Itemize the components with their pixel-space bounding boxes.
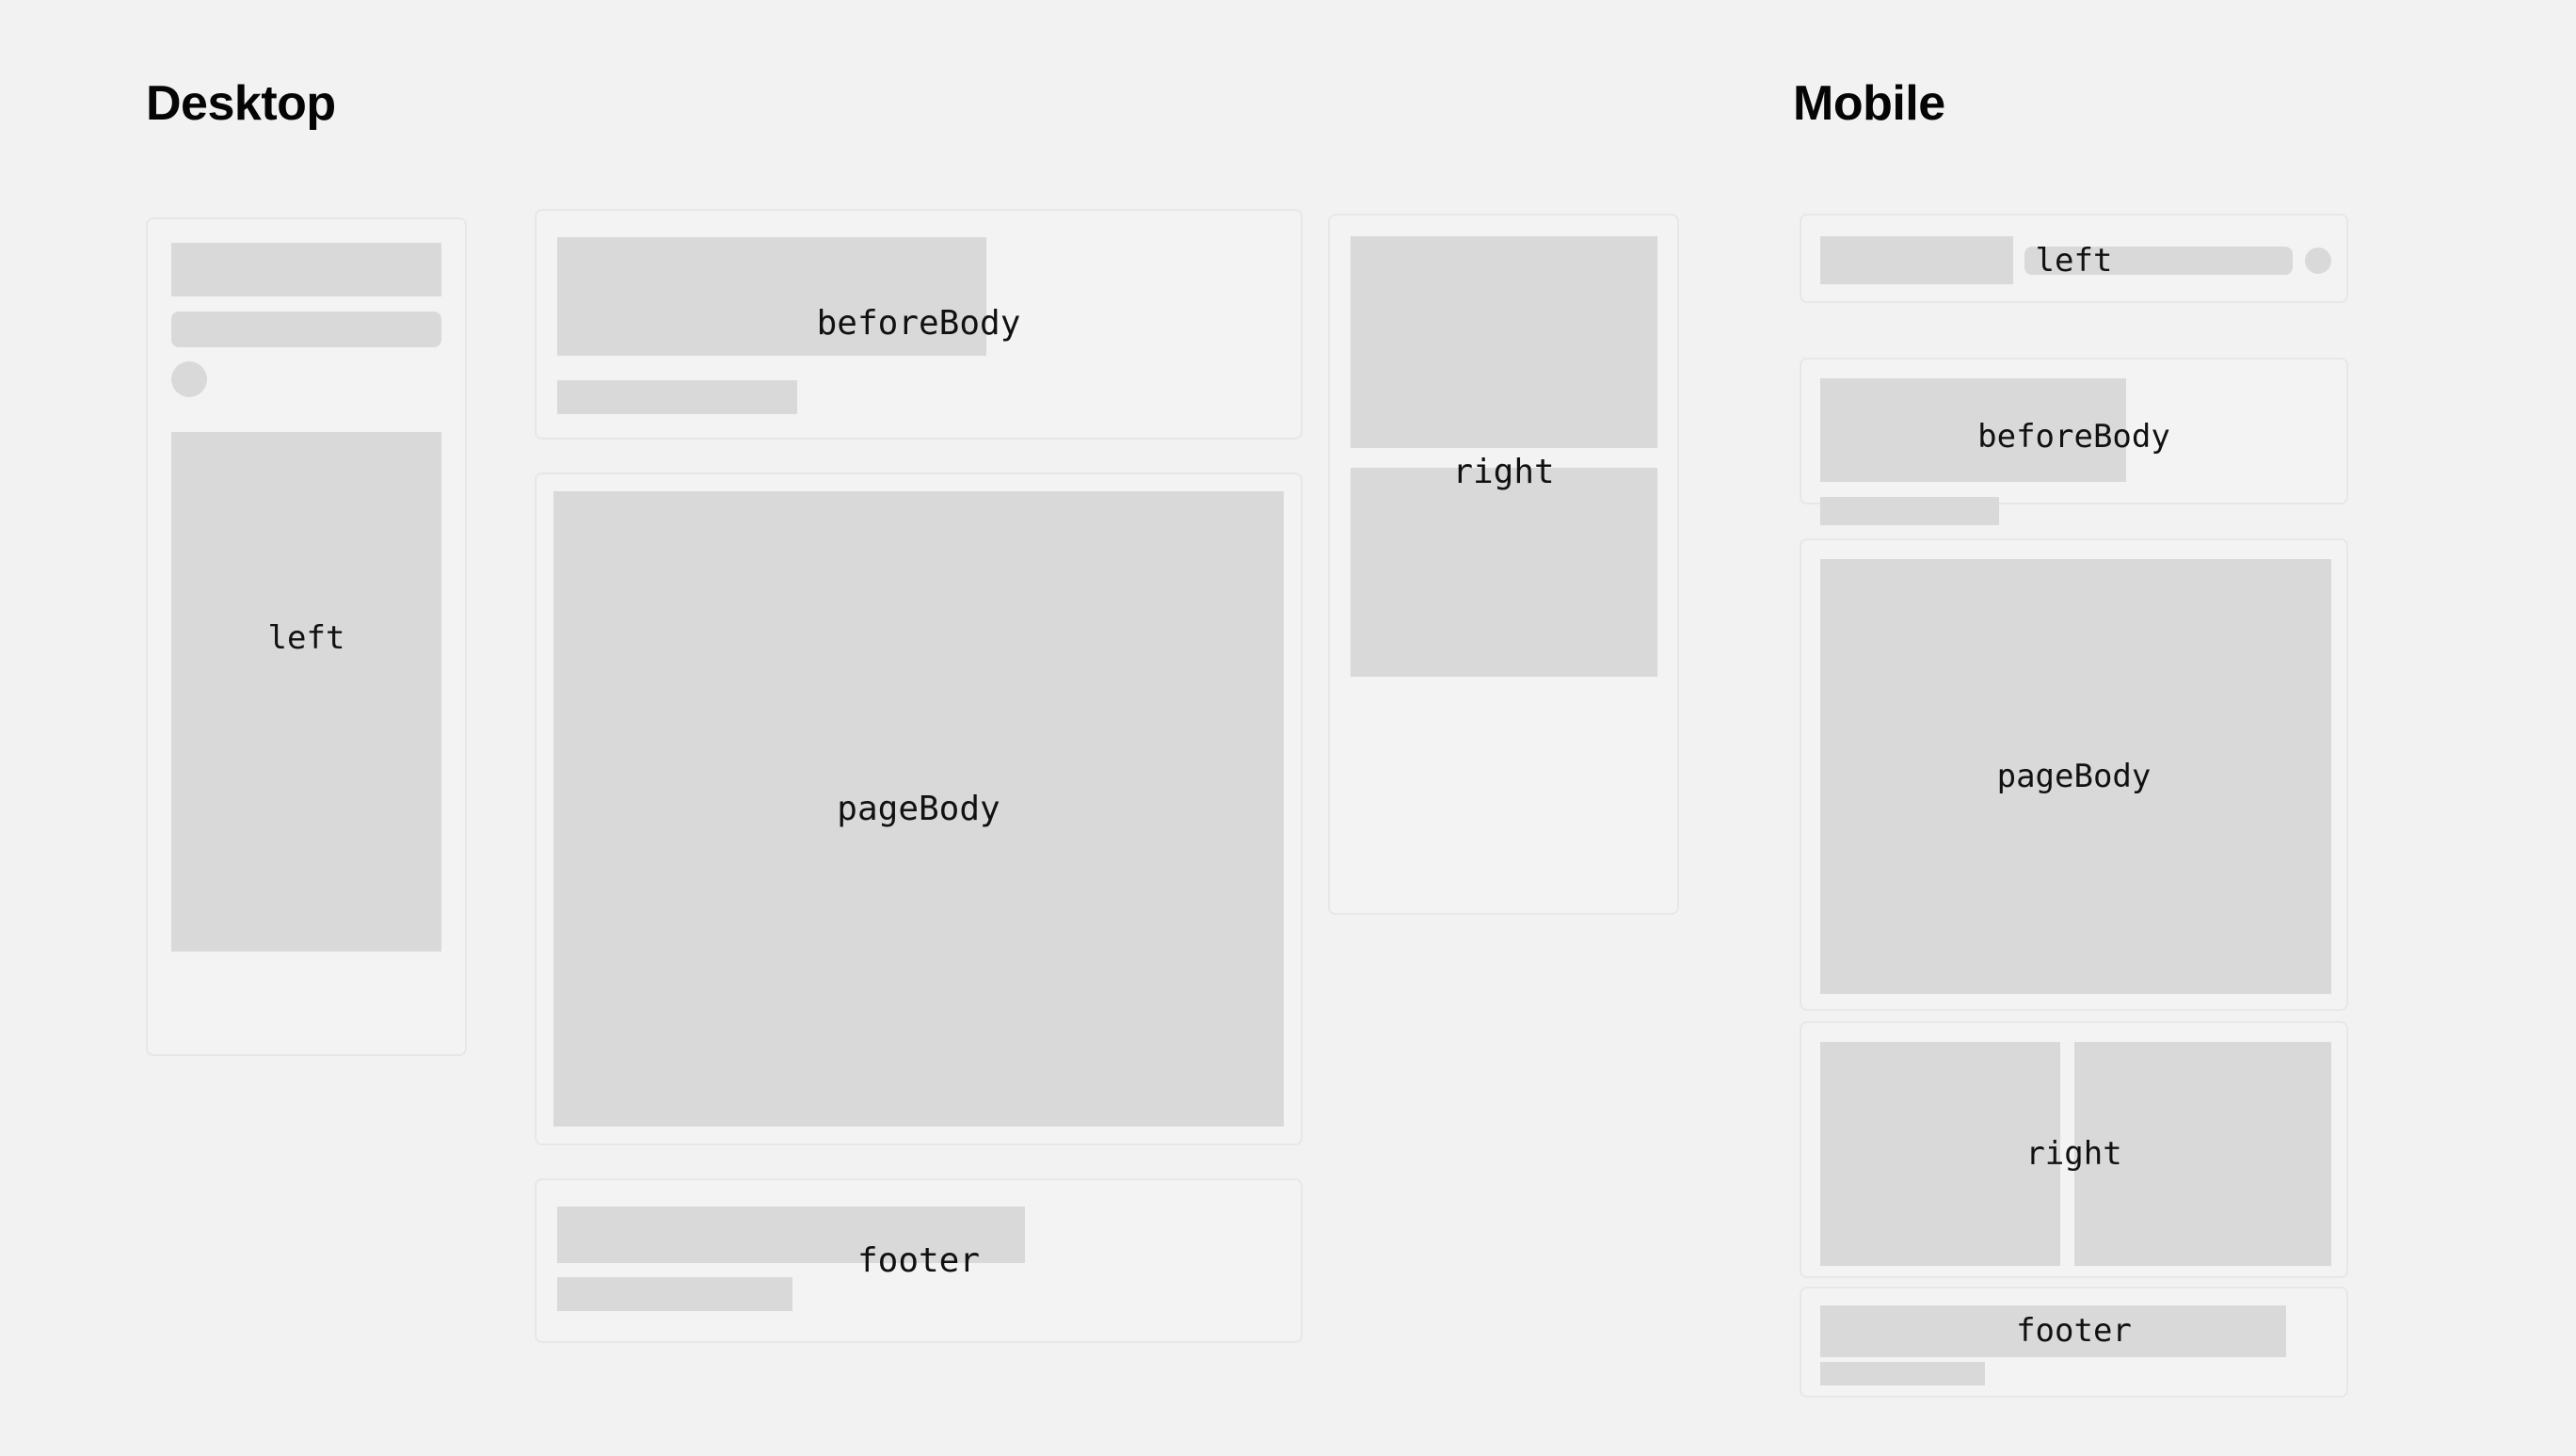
mobile-right-skeleton-left-block [1820, 1042, 2060, 1266]
desktop-left-skeleton-header-block [171, 243, 441, 296]
desktop-page-body-region-panel[interactable]: pageBody [535, 472, 1303, 1145]
desktop-right-skeleton-top-block [1351, 236, 1657, 448]
mobile-page-body-region-panel[interactable]: pageBody [1800, 538, 2348, 1011]
desktop-footer-skeleton-wide-bar [557, 1207, 1025, 1263]
mobile-before-body-skeleton-hero-block [1820, 378, 2126, 482]
desktop-left-skeleton-bar [171, 312, 441, 347]
mobile-right-skeleton-right-block [2074, 1042, 2331, 1266]
desktop-page-body-skeleton-block [553, 491, 1284, 1127]
mobile-left-skeleton-block [1820, 236, 2013, 284]
mobile-before-body-region-panel[interactable]: beforeBody [1800, 358, 2348, 504]
desktop-footer-region-panel[interactable]: footer [535, 1178, 1303, 1343]
desktop-right-skeleton-bottom-block [1351, 468, 1657, 677]
desktop-left-skeleton-avatar-circle [171, 361, 207, 397]
desktop-before-body-skeleton-bar [557, 380, 797, 414]
mobile-before-body-skeleton-bar [1820, 497, 1999, 525]
desktop-left-region-panel[interactable]: left [146, 217, 467, 1056]
desktop-before-body-skeleton-hero-block [557, 237, 986, 356]
desktop-footer-skeleton-small-bar [557, 1277, 792, 1311]
mobile-footer-skeleton-small-bar [1820, 1362, 1985, 1385]
desktop-right-region-panel[interactable]: right [1328, 214, 1679, 915]
mobile-footer-skeleton-wide-bar [1820, 1305, 2286, 1357]
layout-preview-canvas: Desktop left beforeBody pageBody footer … [0, 0, 2576, 1456]
desktop-section-heading: Desktop [146, 79, 336, 128]
mobile-section-heading: Mobile [1793, 79, 1945, 128]
mobile-footer-region-panel[interactable]: footer [1800, 1287, 2348, 1398]
desktop-before-body-region-panel[interactable]: beforeBody [535, 209, 1303, 440]
mobile-left-skeleton-avatar-circle [2305, 248, 2331, 274]
mobile-right-region-panel[interactable]: right [1800, 1021, 2348, 1278]
mobile-left-region-panel[interactable]: left [1800, 214, 2348, 303]
desktop-left-skeleton-content-block [171, 432, 441, 952]
mobile-page-body-skeleton-block [1820, 559, 2331, 994]
mobile-left-skeleton-bar [2024, 247, 2293, 275]
